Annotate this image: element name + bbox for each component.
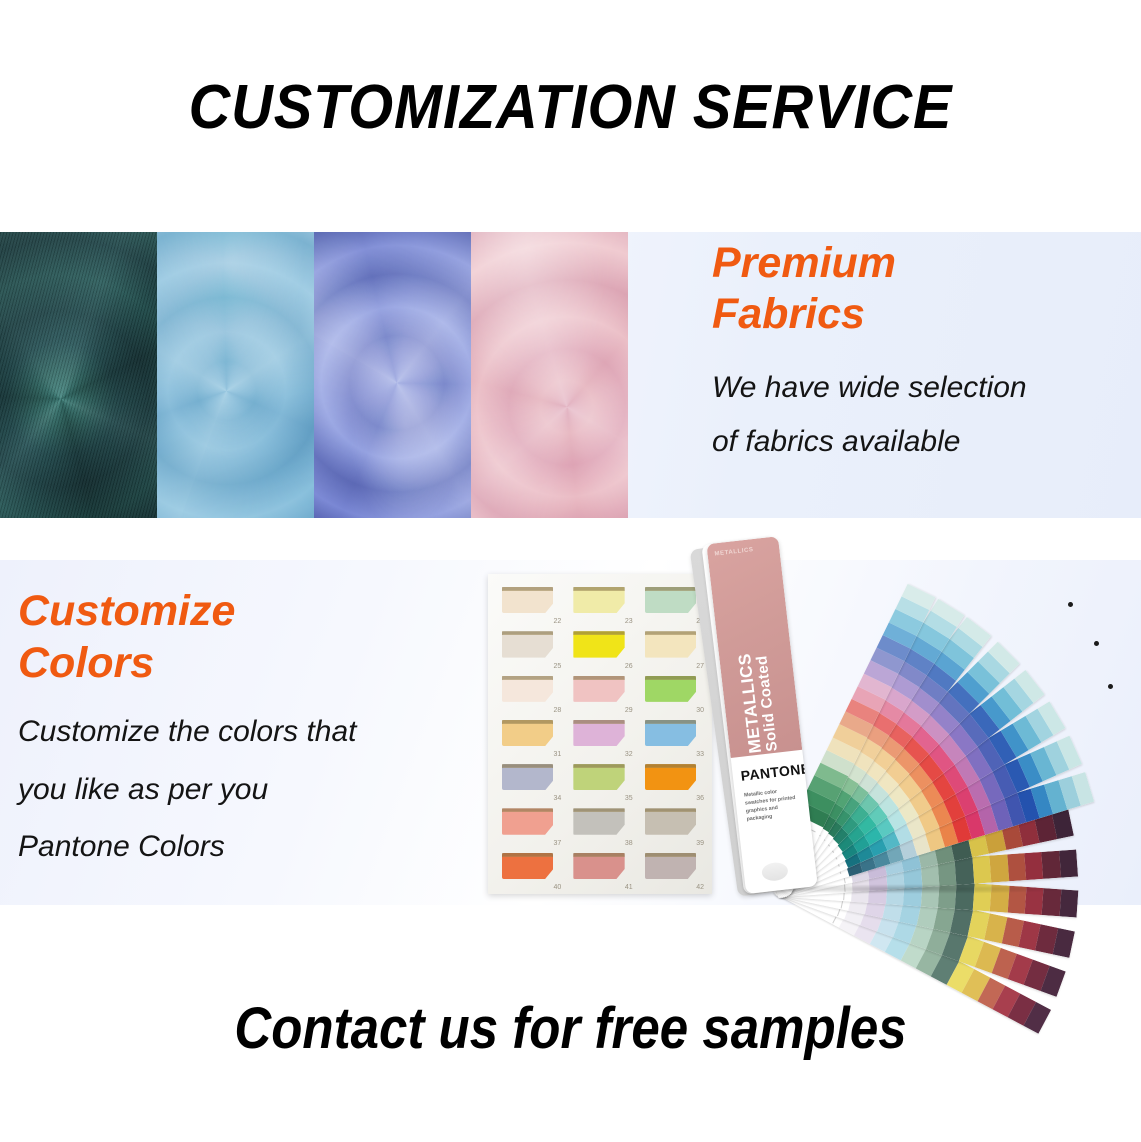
color-swatch-number: 29	[625, 707, 633, 714]
customize-colors-body-line-2: you like as per you	[18, 761, 488, 819]
color-swatch-cell: 23	[567, 583, 632, 622]
color-swatch-cell: 33	[639, 716, 704, 755]
color-swatch-number: 42	[696, 884, 704, 891]
color-swatch-number: 27	[696, 663, 704, 670]
fan-card-color-cell	[990, 854, 1009, 882]
fabric-swatch-strip	[0, 232, 628, 518]
deck-pivot-hole-icon	[761, 861, 789, 882]
color-swatch-cell: 41	[567, 849, 632, 888]
customize-colors-heading: Customize Colors	[18, 586, 488, 689]
color-swatch-cell: 39	[639, 804, 704, 843]
color-swatch	[502, 853, 553, 879]
color-swatch-cell: 27	[639, 627, 704, 666]
color-swatch-number: 23	[625, 618, 633, 625]
color-swatch	[573, 720, 624, 746]
color-swatch-number: 40	[554, 884, 562, 891]
color-swatch-cell: 35	[567, 760, 632, 799]
color-swatch-cell: 28	[496, 672, 561, 711]
color-swatch-number: 39	[696, 840, 704, 847]
color-swatch-number: 33	[696, 751, 704, 758]
color-swatch-cell: 34	[496, 760, 561, 799]
registration-dot-icon	[1068, 602, 1073, 607]
customize-colors-body-line-1: Customize the colors that	[18, 703, 488, 761]
color-swatch	[573, 587, 624, 613]
color-swatch	[502, 587, 553, 613]
fabric-image-periwinkle-chiffon	[314, 232, 471, 518]
color-swatch-number: 31	[554, 751, 562, 758]
premium-fabrics-text-block: Premium Fabrics We have wide selection o…	[712, 238, 1127, 468]
page-title: CUSTOMIZATION SERVICE	[40, 72, 1101, 143]
page-footer-cta: Contact us for free samples	[68, 995, 1072, 1062]
color-swatch-number: 25	[554, 663, 562, 670]
fabric-image-blush-pink-crepe	[471, 232, 628, 518]
color-swatch	[645, 587, 696, 613]
fan-card-color-cell	[1059, 850, 1078, 878]
color-swatch-number: 32	[625, 751, 633, 758]
color-swatch-cell: 31	[496, 716, 561, 755]
color-swatch	[645, 853, 696, 879]
color-swatch-cell: 38	[567, 804, 632, 843]
color-swatch	[573, 764, 624, 790]
color-swatch-number: 22	[554, 618, 562, 625]
fan-card-color-cell	[1024, 852, 1043, 880]
premium-fabrics-heading: Premium Fabrics	[712, 238, 1127, 339]
color-swatch-cell: 32	[567, 716, 632, 755]
color-swatch-number: 38	[625, 840, 633, 847]
fan-card-color-cell	[1042, 851, 1061, 879]
customize-colors-body-line-3: Pantone Colors	[18, 818, 488, 876]
premium-fabrics-body-line-1: We have wide selection	[712, 361, 1127, 414]
color-swatch-cell: 37	[496, 804, 561, 843]
cover-description: Metallic color swatches for printed grap…	[744, 785, 803, 823]
color-swatch-cell: 26	[567, 627, 632, 666]
color-swatch-cell: 25	[496, 627, 561, 666]
color-swatch	[573, 853, 624, 879]
pantone-wordmark: PANTONE	[740, 760, 811, 784]
color-swatch-number: 36	[696, 795, 704, 802]
fan-card-color-cell	[972, 856, 991, 884]
color-swatch	[645, 808, 696, 834]
color-swatch	[573, 808, 624, 834]
color-swatch	[645, 764, 696, 790]
color-swatch-cell: 42	[639, 849, 704, 888]
color-swatch	[573, 631, 624, 657]
color-swatch-cell: 22	[496, 583, 561, 622]
color-swatch	[502, 720, 553, 746]
color-swatch	[502, 631, 553, 657]
color-swatch-number: 30	[696, 707, 704, 714]
premium-fabrics-body-line-2: of fabrics available	[712, 415, 1127, 468]
fabric-image-dark-teal-ribbed-knit	[0, 232, 157, 518]
color-swatch	[502, 764, 553, 790]
fabric-image-light-blue-jersey	[157, 232, 314, 518]
color-swatch	[645, 720, 696, 746]
color-swatch-card: 2223242526272829303132333435363738394041…	[488, 574, 712, 894]
color-swatch-number: 28	[554, 707, 562, 714]
registration-dot-icon	[1108, 684, 1113, 689]
color-swatch	[502, 808, 553, 834]
color-swatch	[645, 676, 696, 702]
color-swatch-number: 35	[625, 795, 633, 802]
color-swatch-number: 34	[554, 795, 562, 802]
color-swatch-number: 37	[554, 840, 562, 847]
color-swatch-cell: 40	[496, 849, 561, 888]
fan-card-color-cell	[955, 857, 974, 885]
customize-colors-text-block: Customize Colors Customize the colors th…	[18, 586, 488, 876]
cover-vertical-title: METALLICS Solid Coated	[725, 552, 782, 755]
fan-card-color-cell	[1007, 853, 1026, 881]
pantone-fan-deck: PANTONE•••••••• ••••••••PANTONE•••••••• …	[716, 536, 1141, 908]
color-swatch-number: 26	[625, 663, 633, 670]
color-swatch	[502, 676, 553, 702]
registration-dot-icon	[1094, 641, 1099, 646]
color-swatch	[645, 631, 696, 657]
color-swatch-cell: 36	[639, 760, 704, 799]
color-swatch-cell: 30	[639, 672, 704, 711]
color-swatch	[573, 676, 624, 702]
color-swatch-cell: 29	[567, 672, 632, 711]
color-swatch-number: 41	[625, 884, 633, 891]
